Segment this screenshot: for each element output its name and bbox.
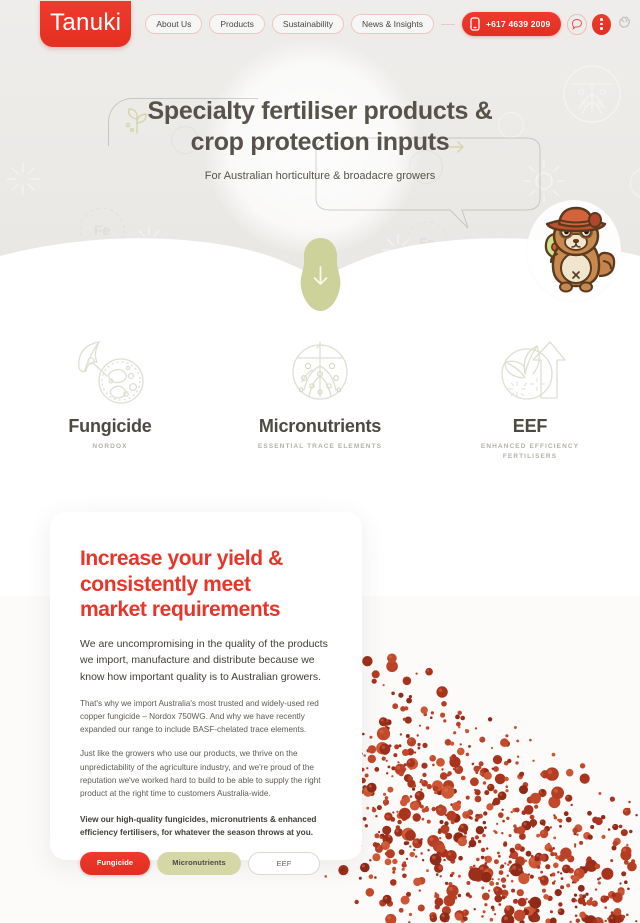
- phone-button[interactable]: +617 4639 2009: [462, 12, 562, 36]
- category-micronutrients[interactable]: Micronutrients ESSENTIAL TRACE ELEMENTS: [245, 330, 395, 462]
- category-strip: Fungicide NORDOX: [0, 330, 640, 462]
- chat-button[interactable]: [567, 14, 586, 35]
- category-name-eef: EEF: [455, 416, 605, 437]
- category-sub-fungicide: NORDOX: [35, 442, 185, 452]
- leaf-magnifier-spore-icon: [71, 334, 149, 406]
- button-fungicide[interactable]: Fungicide: [80, 852, 150, 875]
- card-title: Increase your yield & consistently meet …: [80, 546, 332, 623]
- card-paragraph-1: That's why we import Australia's most tr…: [80, 697, 332, 737]
- category-icon-wrap-fungicide: [35, 330, 185, 410]
- card-button-group: Fungicide Micronutrients EEF: [80, 852, 332, 875]
- landing-page: Fe Fe: [0, 0, 640, 923]
- mobile-phone-icon: [469, 17, 481, 31]
- menu-dot-2: [600, 23, 603, 26]
- card-title-line-1: Increase your yield &: [80, 546, 332, 572]
- card-paragraph-3: View our high-quality fungicides, micron…: [80, 813, 332, 840]
- leaf-up-arrow-icon: [493, 334, 567, 406]
- category-icon-wrap-eef: [455, 330, 605, 410]
- intro-card: Increase your yield & consistently meet …: [50, 512, 362, 860]
- hero-subtitle: For Australian horticulture & broadacre …: [0, 170, 640, 182]
- nav-item-sustainability[interactable]: Sustainability: [272, 14, 344, 34]
- card-title-line-2: consistently meet: [80, 572, 332, 598]
- language-hand-icon: [617, 14, 632, 29]
- scroll-down-arrow-icon[interactable]: [298, 237, 343, 312]
- category-icon-wrap-micronutrients: [245, 330, 395, 410]
- logo-label: Tanuki: [50, 9, 121, 37]
- category-name-micronutrients: Micronutrients: [245, 416, 395, 437]
- category-fungicide[interactable]: Fungicide NORDOX: [35, 330, 185, 462]
- category-sub-eef: ENHANCED EFFICIENCY FERTILISERS: [455, 442, 605, 462]
- three-dot-menu-icon: [600, 18, 603, 21]
- card-paragraph-2: Just like the growers who use our produc…: [80, 747, 332, 800]
- root-nutrient-circle-icon: [284, 334, 356, 406]
- language-button[interactable]: [617, 14, 632, 34]
- hero-text-block: Specialty fertiliser products & crop pro…: [0, 96, 640, 182]
- button-micronutrients[interactable]: Micronutrients: [157, 852, 241, 875]
- nav-item-products[interactable]: Products: [209, 14, 265, 34]
- card-lead-paragraph: We are uncompromising in the quality of …: [80, 636, 332, 686]
- category-eef[interactable]: EEF ENHANCED EFFICIENCY FERTILISERS: [455, 330, 605, 462]
- hero-title-line-1: Specialty fertiliser products &: [0, 96, 640, 127]
- hero-title-line-2: crop protection inputs: [0, 127, 640, 158]
- menu-button[interactable]: [592, 14, 611, 35]
- header-divider-line: [441, 24, 455, 25]
- nav-item-news-insights[interactable]: News & Insights: [351, 14, 434, 34]
- tanuki-mascot-icon: [533, 206, 619, 298]
- menu-dot-3: [600, 27, 603, 30]
- site-header: Tanuki About Us Products Sustainability …: [0, 0, 640, 48]
- phone-number: +617 4639 2009: [486, 19, 551, 29]
- hero-title: Specialty fertiliser products & crop pro…: [0, 96, 640, 157]
- category-sub-micronutrients: ESSENTIAL TRACE ELEMENTS: [245, 442, 395, 452]
- card-title-line-3: market requirements: [80, 597, 332, 623]
- chat-bubble-icon: [571, 18, 583, 30]
- main-nav: About Us Products Sustainability News & …: [145, 14, 434, 34]
- category-name-fungicide: Fungicide: [35, 416, 185, 437]
- nav-item-about-us[interactable]: About Us: [145, 14, 202, 34]
- button-eef[interactable]: EEF: [248, 852, 320, 875]
- logo[interactable]: Tanuki: [40, 1, 131, 47]
